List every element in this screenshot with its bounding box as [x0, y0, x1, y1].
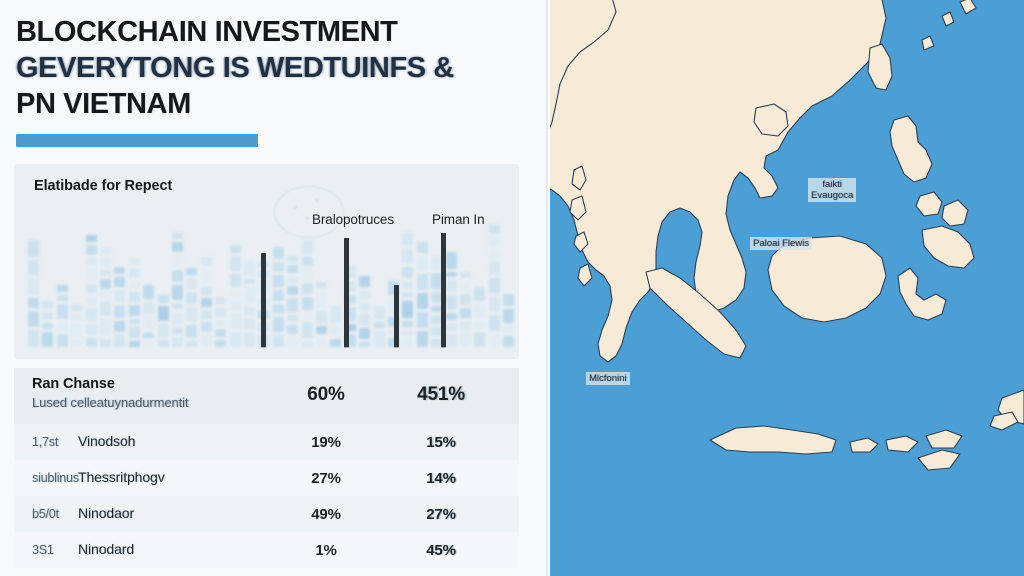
map-land-halmahera: [990, 412, 1018, 430]
chart-block: [302, 283, 313, 294]
chart-block: [129, 280, 140, 289]
title-line-3: PN VIETNAM: [16, 86, 516, 122]
chart-block: [446, 313, 457, 320]
chart-block: [273, 290, 284, 300]
chart-block: [359, 303, 370, 311]
chart-block: [86, 296, 97, 305]
chart-block: [460, 281, 471, 291]
chart-block: [86, 268, 97, 281]
map-land-ryukyu-3: [922, 36, 934, 50]
chart-block: [158, 295, 169, 303]
chart-block: [100, 279, 111, 289]
chart-block: [244, 332, 255, 347]
chart-block-column: [143, 285, 154, 347]
chart-block: [201, 269, 212, 284]
chart-block: [201, 287, 212, 295]
chart-block: [86, 338, 97, 347]
chart-block: [287, 276, 298, 283]
chart-block: [186, 268, 197, 276]
chart-card: Elatibade for Repect Bralopotruces Piman…: [14, 164, 519, 359]
chart-block: [143, 317, 154, 330]
chart-block-column: [57, 285, 68, 348]
chart-block: [417, 312, 428, 328]
table-header-label-cell: Ran Chanse Lused celleatuynadurmentit: [32, 376, 271, 410]
chart-block: [302, 269, 313, 280]
chart-block: [86, 324, 97, 335]
chart-block: [100, 319, 111, 335]
chart-block: [28, 298, 39, 308]
chart-block: [417, 274, 428, 290]
chart-block: [71, 324, 82, 338]
chart-block: [489, 225, 500, 234]
map-land-visayas-2: [942, 200, 968, 226]
chart-block: [503, 336, 514, 347]
chart-block: [287, 325, 298, 334]
chart-block: [42, 332, 53, 347]
infographic-root: BLOCKCHAIN INVESTMENT GEVERYTONG IS WEDT…: [0, 0, 1024, 576]
chart-block-column: [460, 272, 471, 347]
chart-block: [230, 300, 241, 310]
map-land-timor: [918, 450, 960, 470]
chart-block: [417, 256, 428, 271]
table-row-name: Ninodaor: [78, 505, 134, 521]
chart-block: [143, 341, 154, 347]
chart-block: [230, 290, 241, 297]
chart-block: [201, 257, 212, 266]
chart-block: [172, 270, 183, 282]
table-row-name: Thessritphogv: [78, 469, 165, 485]
chart-block: [474, 321, 485, 328]
chart-block: [446, 295, 457, 310]
chart-block: [273, 247, 284, 260]
chart-block: [273, 275, 284, 288]
chart-block-column: [28, 240, 39, 347]
title-line-2: GEVERYTONG IS WEDTUINFS &: [16, 50, 516, 86]
chart-block: [100, 339, 111, 347]
chart-block: [186, 278, 197, 289]
table-row-label-cell: siublinusThessritphogv: [32, 469, 271, 487]
chart-block: [57, 285, 68, 292]
chart-block: [489, 296, 500, 312]
chart-block: [302, 322, 313, 338]
chart-block: [215, 320, 226, 325]
chart-block-column: [172, 233, 183, 347]
chart-block: [287, 265, 298, 273]
chart-block: [201, 335, 212, 347]
chart-block: [143, 302, 154, 314]
chart-block: [503, 326, 514, 334]
table-row-name: Vinodsoh: [78, 433, 135, 449]
chart-block: [446, 272, 457, 277]
chart-block: [42, 301, 53, 310]
chart-block: [186, 341, 197, 347]
chart-block: [129, 327, 140, 338]
map-label-sea: Paloai Flewis: [750, 237, 812, 250]
chart-block: [359, 276, 370, 287]
chart-block: [330, 306, 341, 322]
chart-block: [446, 334, 457, 347]
chart-block: [230, 245, 241, 253]
chart-block: [100, 292, 111, 298]
table-row-value-2: 45%: [381, 542, 501, 559]
chart-block: [402, 330, 413, 336]
chart-block: [359, 342, 370, 347]
chart-block: [287, 298, 298, 312]
chart-block-column: [302, 240, 313, 347]
map-land-mindanao: [922, 226, 974, 268]
chart-block: [158, 340, 169, 347]
chart-bar: [441, 233, 446, 347]
chart-block: [302, 313, 313, 320]
chart-block-column: [100, 248, 111, 347]
chart-block-column: [503, 294, 514, 347]
chart-block: [86, 284, 97, 292]
chart-block-column: [71, 305, 82, 347]
chart-block: [474, 304, 485, 318]
chart-block-column: [330, 306, 341, 347]
chart-block: [28, 311, 39, 327]
chart-block: [359, 328, 370, 338]
chart-block-column: [489, 225, 500, 347]
chart-block: [244, 318, 255, 329]
chart-block-column: [158, 295, 169, 347]
chart-block: [244, 307, 255, 315]
chart-block: [273, 335, 284, 347]
chart-block: [460, 294, 471, 305]
chart-block: [172, 233, 183, 240]
chart-block: [402, 281, 413, 289]
chart-block: [374, 322, 385, 328]
chart-block: [172, 337, 183, 347]
chart-block: [42, 312, 53, 319]
chart-block: [302, 240, 313, 254]
chart-block: [172, 303, 183, 309]
table-row-rank: 3S1: [32, 543, 78, 557]
chart-block: [359, 314, 370, 325]
chart-block: [302, 341, 313, 347]
table-row-rank: siublinus: [32, 471, 78, 485]
chart-block-column: [402, 232, 413, 347]
table-row-label-cell: b5/0tNinodaor: [32, 505, 271, 523]
chart-block: [460, 321, 471, 330]
chart-block: [402, 301, 413, 317]
table-row-label-cell: 1,7stVinodsoh: [32, 433, 271, 451]
chart-block: [273, 262, 284, 272]
table-header-subtitle: Lused celleatuynadurmentit: [32, 395, 271, 410]
table-row[interactable]: 1,7stVinodsoh19%15%: [14, 424, 519, 460]
table-row-rank: b5/0t: [32, 507, 78, 521]
chart-block: [86, 245, 97, 255]
chart-block: [129, 319, 140, 324]
chart-block: [302, 297, 313, 310]
chart-block: [28, 240, 39, 257]
chart-block: [172, 328, 183, 334]
page-title: BLOCKCHAIN INVESTMENT GEVERYTONG IS WEDT…: [16, 14, 516, 122]
chart-block: [230, 332, 241, 347]
chart-block: [57, 322, 68, 331]
chart-block: [316, 311, 327, 323]
chart-block-column: [316, 282, 327, 347]
chart-block: [287, 337, 298, 347]
title-accent-bar: [16, 134, 258, 147]
chart-block: [143, 333, 154, 338]
table-row[interactable]: 3S1Ninodard1%45%: [14, 532, 519, 568]
chart-block: [129, 341, 140, 347]
chart-bar: [344, 238, 349, 347]
chart-block: [503, 309, 514, 322]
chart-block: [215, 297, 226, 305]
chart-block: [230, 256, 241, 270]
map-land-sunda-1: [850, 438, 878, 452]
chart-block: [503, 294, 514, 307]
chart-block: [474, 287, 485, 301]
data-table: Ran Chanse Lused celleatuynadurmentit 60…: [14, 368, 519, 568]
chart-block: [489, 315, 500, 331]
chart-block: [129, 268, 140, 276]
chart-block: [417, 331, 428, 347]
chart-block: [114, 267, 125, 275]
table-header-title: Ran Chanse: [32, 376, 271, 392]
chart-block: [273, 317, 284, 332]
chart-block: [273, 304, 284, 314]
chart-block: [100, 270, 111, 277]
chart-block: [460, 272, 471, 277]
chart-block: [57, 295, 68, 301]
table-row-value-2: 15%: [381, 434, 501, 451]
chart-block: [172, 255, 183, 266]
map-land-sulawesi: [898, 268, 946, 320]
chart-block: [158, 306, 169, 320]
chart-block: [374, 306, 385, 319]
chart-block-column: [244, 260, 255, 347]
chart-block: [28, 278, 39, 294]
chart-block: [100, 248, 111, 254]
chart-block: [129, 305, 140, 316]
table-row-value-2: 14%: [381, 470, 501, 487]
chart-block-column: [114, 267, 125, 347]
chart-block: [28, 260, 39, 275]
chart-block: [287, 286, 298, 295]
table-header-value-2: 451%: [381, 376, 501, 406]
table-header-value-1: 60%: [271, 376, 381, 406]
map-land-nicobar: [578, 264, 592, 286]
chart-block: [287, 256, 298, 262]
chart-block-column: [273, 247, 284, 347]
chart-block: [230, 313, 241, 329]
map-land-ryukyu-2: [960, 0, 976, 14]
title-line-1: BLOCKCHAIN INVESTMENT: [16, 14, 516, 50]
chart-block-column: [215, 297, 226, 347]
chart-block: [330, 326, 341, 336]
chart-block: [244, 287, 255, 304]
chart-series-label-1: Bralopotruces: [312, 212, 394, 227]
chart-block: [460, 308, 471, 318]
chart-block: [215, 308, 226, 317]
map-land-taiwan: [868, 44, 892, 90]
chart-block-column: [287, 256, 298, 347]
chart-block: [172, 285, 183, 300]
chart-block: [86, 258, 97, 265]
chart-block-column: [42, 301, 53, 347]
table-row-value-1: 27%: [271, 470, 381, 487]
chart-block: [28, 330, 39, 347]
chart-block: [316, 282, 327, 288]
chart-series-label-2: Piman In: [432, 212, 484, 227]
table-row-value-1: 49%: [271, 506, 381, 523]
map-panel: faiktiEvaugocaPaloai FlewisMlcfonini: [550, 0, 1024, 576]
chart-block-column: [129, 259, 140, 347]
chart-block: [114, 305, 125, 318]
table-row-name: Ninodard: [78, 541, 134, 557]
chart-block-column: [417, 242, 428, 347]
chart-block: [316, 326, 327, 333]
southeast-asia-map: [550, 0, 1024, 576]
chart-block: [489, 261, 500, 275]
chart-block-column: [201, 257, 212, 347]
chart-block: [489, 278, 500, 293]
chart-block: [71, 314, 82, 321]
chart-block: [302, 257, 313, 267]
chart-block: [330, 339, 341, 347]
chart-block: [57, 304, 68, 320]
chart-block: [316, 337, 327, 347]
chart-block: [201, 310, 212, 319]
table-header-row: Ran Chanse Lused celleatuynadurmentit 60…: [14, 368, 519, 424]
map-land-ryukyu-1: [942, 12, 954, 26]
chart-block: [86, 308, 97, 321]
table-row[interactable]: siublinusThessritphogv27%14%: [14, 460, 519, 496]
chart-block: [244, 279, 255, 284]
chart-block: [100, 301, 111, 317]
chart-block: [402, 248, 413, 263]
chart-block: [186, 325, 197, 338]
chart-block: [374, 331, 385, 347]
chart-block: [100, 257, 111, 266]
chart-block: [359, 290, 370, 300]
map-land-sunda-2: [886, 436, 918, 452]
chart-block: [114, 321, 125, 332]
chart-block: [215, 329, 226, 337]
chart-block: [402, 339, 413, 347]
chart-block: [316, 291, 327, 308]
chart-block: [460, 333, 471, 347]
chart-block: [172, 312, 183, 325]
chart-block-column: [230, 245, 241, 347]
left-content-panel: BLOCKCHAIN INVESTMENT GEVERYTONG IS WEDT…: [0, 0, 548, 576]
chart-block: [489, 249, 500, 258]
chart-block: [129, 259, 140, 265]
chart-block: [402, 232, 413, 245]
chart-block-column: [446, 252, 457, 347]
chart-block: [158, 324, 169, 337]
map-land-luzon: [890, 116, 932, 182]
chart-block: [287, 315, 298, 322]
chart-bar: [261, 253, 266, 347]
chart-block: [186, 292, 197, 304]
chart-block: [417, 242, 428, 252]
table-row[interactable]: b5/0tNinodaor49%27%: [14, 496, 519, 532]
chart-block: [446, 323, 457, 331]
map-label-east: faiktiEvaugoca: [808, 178, 856, 202]
chart-block-column: [86, 235, 97, 347]
chart-block: [201, 322, 212, 332]
chart-block-column: [374, 306, 385, 347]
chart-block: [71, 341, 82, 347]
chart-block: [402, 267, 413, 279]
table-body: 1,7stVinodsoh19%15%siublinusThessritphog…: [14, 424, 519, 568]
chart-block: [42, 323, 53, 329]
table-row-label-cell: 3S1Ninodard: [32, 541, 271, 559]
chart-bar: [394, 285, 399, 347]
chart-block: [129, 292, 140, 302]
map-label-south: Mlcfonini: [586, 372, 630, 385]
chart-block: [86, 235, 97, 242]
chart-block: [402, 321, 413, 327]
chart-block: [114, 277, 125, 287]
chart-block: [474, 332, 485, 347]
chart-block: [446, 280, 457, 292]
table-row-value-2: 27%: [381, 506, 501, 523]
chart-block-column: [474, 287, 485, 347]
chart-block: [57, 334, 68, 347]
chart-block: [446, 252, 457, 269]
map-land-sunda-3: [926, 430, 962, 448]
chart-block: [114, 335, 125, 347]
chart-block: [489, 334, 500, 347]
chart-block: [201, 298, 212, 307]
chart-block: [244, 260, 255, 275]
table-row-value-1: 19%: [271, 434, 381, 451]
chart-block: [172, 242, 183, 252]
chart-block: [489, 237, 500, 246]
chart-block: [186, 307, 197, 322]
chart-block-column: [186, 268, 197, 347]
table-row-rank: 1,7st: [32, 435, 78, 449]
table-row-value-1: 1%: [271, 542, 381, 559]
chart-block: [215, 340, 226, 347]
chart-block: [417, 293, 428, 309]
chart-block: [402, 292, 413, 298]
map-land-java: [710, 426, 836, 454]
chart-block: [114, 290, 125, 302]
chart-block: [230, 274, 241, 287]
chart-block-column: [359, 276, 370, 347]
chart-block: [71, 305, 82, 311]
map-land-visayas: [916, 192, 942, 216]
chart-block: [143, 285, 154, 300]
